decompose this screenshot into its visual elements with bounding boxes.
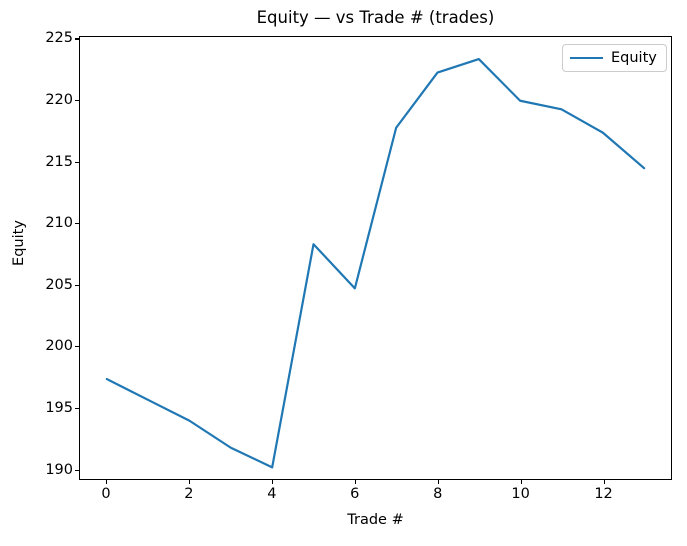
y-axis-tick-label: 225 — [29, 31, 73, 45]
x-axis-tick-label: 12 — [584, 487, 624, 501]
y-axis-tick-label: 195 — [29, 401, 73, 415]
x-axis-tick-label: 2 — [169, 487, 209, 501]
y-axis-tick-label: 215 — [29, 155, 73, 169]
y-axis-label: Equity — [11, 193, 27, 293]
x-axis-tick-label: 6 — [335, 487, 375, 501]
x-axis-tick-label: 8 — [418, 487, 458, 501]
x-axis-tick-labels: 024681012 — [79, 487, 672, 507]
x-axis-tick-label: 10 — [501, 487, 541, 501]
x-axis-tick-mark — [438, 480, 439, 484]
x-axis-tick-mark — [106, 480, 107, 484]
y-axis-tick-label: 210 — [29, 216, 73, 230]
y-axis-tick-label: 190 — [29, 463, 73, 477]
x-axis-tick-mark — [521, 480, 522, 484]
y-axis-tick-label: 220 — [29, 93, 73, 107]
chart-title: Equity — vs Trade # (trades) — [79, 8, 672, 28]
legend-label-equity: Equity — [611, 50, 657, 66]
y-axis-tick-labels: 190195200205210215220225 — [24, 36, 73, 480]
x-axis-tick-label: 0 — [86, 487, 126, 501]
x-axis-tick-marks — [79, 480, 672, 484]
x-axis-tick-mark — [272, 480, 273, 484]
data-line-equity — [107, 59, 644, 467]
x-axis-tick-label: 4 — [252, 487, 292, 501]
y-axis-tick-label: 205 — [29, 278, 73, 292]
y-axis-tick-label: 200 — [29, 339, 73, 353]
plot-area — [79, 36, 672, 480]
data-line-svg — [80, 37, 671, 479]
legend-line-swatch-equity — [570, 57, 603, 59]
x-axis-label: Trade # — [79, 512, 672, 528]
x-axis-tick-mark — [189, 480, 190, 484]
chart-legend: Equity — [562, 44, 667, 72]
chart-figure: Equity — vs Trade # (trades) 19019520020… — [0, 0, 687, 546]
x-axis-tick-mark — [355, 480, 356, 484]
x-axis-tick-mark — [604, 480, 605, 484]
